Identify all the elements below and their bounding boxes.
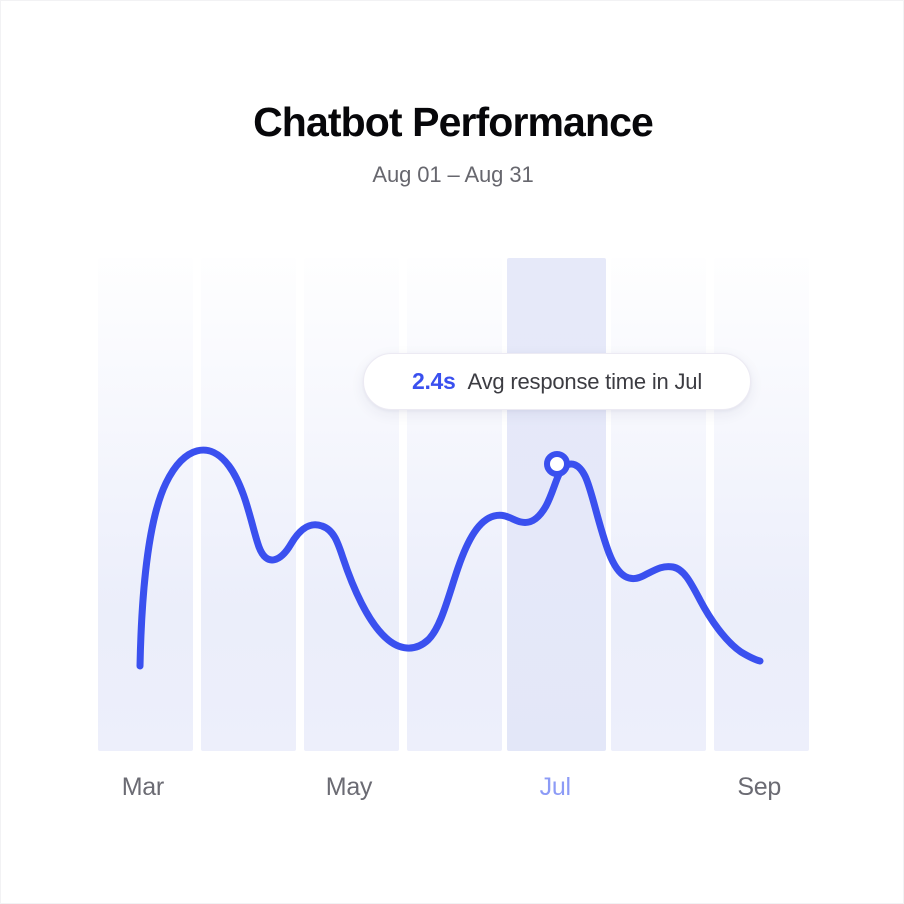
x-tick-sep[interactable]: Sep [737,771,781,803]
chart-card: Chatbot Performance Aug 01 – Aug 31 2.4s… [0,0,904,904]
response-time-line-chart [98,258,809,751]
tooltip-callout[interactable]: 2.4s Avg response time in Jul [363,353,751,410]
page-title: Chatbot Performance [1,1,904,147]
chart-subtitle: Aug 01 – Aug 31 [1,147,904,189]
chart-header: Chatbot Performance Aug 01 – Aug 31 [1,1,904,189]
response-time-line [140,450,760,666]
tooltip-value: 2.4s [412,368,456,395]
chart-plot-area [98,258,809,751]
x-tick-may[interactable]: May [326,771,372,803]
tooltip-label: Avg response time in Jul [468,369,702,395]
highlight-marker[interactable] [547,454,567,474]
x-tick-mar[interactable]: Mar [122,771,164,803]
x-tick-jul[interactable]: Jul [540,771,571,803]
x-axis: Mar May Jul Sep [98,771,809,813]
